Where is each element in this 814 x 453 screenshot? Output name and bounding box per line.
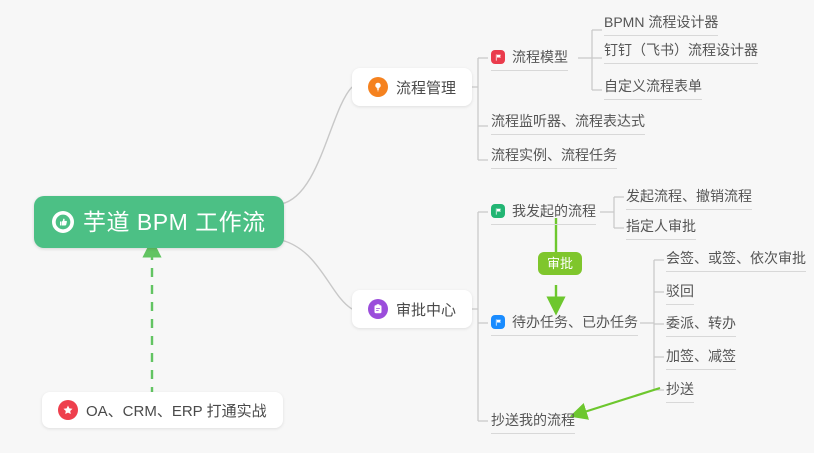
approval-callout-badge: 审批 (538, 252, 582, 275)
wire-root-to-process-management (281, 87, 352, 204)
leaf-reject[interactable]: 驳回 (666, 281, 694, 305)
leaf-bpmn-designer[interactable]: BPMN 流程设计器 (604, 12, 718, 36)
leaf-countersign-orsign-sequential[interactable]: 会签、或签、依次审批 (666, 248, 806, 272)
leaf-process-instance-task[interactable]: 流程实例、流程任务 (491, 145, 617, 169)
bottom-note-card[interactable]: OA、CRM、ERP 打通实战 (42, 392, 283, 428)
root-label: 芋道 BPM 工作流 (83, 211, 266, 234)
flag-icon (491, 50, 505, 64)
flag-icon (491, 204, 505, 218)
node-todo-done-tasks-label: 待办任务、已办任务 (512, 312, 638, 332)
branch-process-management-label: 流程管理 (396, 77, 456, 98)
node-todo-done-tasks[interactable]: 待办任务、已办任务 (491, 312, 638, 336)
node-my-initiated-process[interactable]: 我发起的流程 (491, 201, 596, 225)
node-my-initiated-process-label: 我发起的流程 (512, 201, 596, 221)
root-node[interactable]: 芋道 BPM 工作流 (34, 196, 284, 248)
flag-icon (491, 315, 505, 329)
leaf-cc[interactable]: 抄送 (666, 379, 694, 403)
leaf-custom-process-form[interactable]: 自定义流程表单 (604, 76, 702, 100)
node-process-model[interactable]: 流程模型 (491, 47, 568, 71)
lightbulb-icon (368, 77, 388, 97)
thumbs-up-icon (52, 211, 74, 233)
mindmap-canvas: 芋道 BPM 工作流 OA、CRM、ERP 打通实战 流程管理 (0, 0, 814, 453)
wire-root-to-approval-center (281, 240, 352, 309)
leaf-cc-to-me-process[interactable]: 抄送我的流程 (491, 410, 575, 434)
leaf-assignee-approval[interactable]: 指定人审批 (626, 216, 696, 240)
arrow-cc-to-my-cc (578, 388, 660, 414)
branch-approval-center[interactable]: 审批中心 (352, 290, 472, 328)
leaf-start-cancel-process[interactable]: 发起流程、撤销流程 (626, 186, 752, 210)
leaf-process-listener-expression[interactable]: 流程监听器、流程表达式 (491, 111, 645, 135)
clipboard-icon (368, 299, 388, 319)
branch-process-management[interactable]: 流程管理 (352, 68, 472, 106)
leaf-dingtalk-feishu-designer[interactable]: 钉钉（飞书）流程设计器 (604, 40, 758, 64)
bottom-note-label: OA、CRM、ERP 打通实战 (86, 400, 267, 421)
leaf-delegate-transfer[interactable]: 委派、转办 (666, 313, 736, 337)
node-process-model-label: 流程模型 (512, 47, 568, 67)
star-icon (58, 400, 78, 420)
branch-approval-center-label: 审批中心 (396, 299, 456, 320)
leaf-add-remove-sign[interactable]: 加签、减签 (666, 346, 736, 370)
